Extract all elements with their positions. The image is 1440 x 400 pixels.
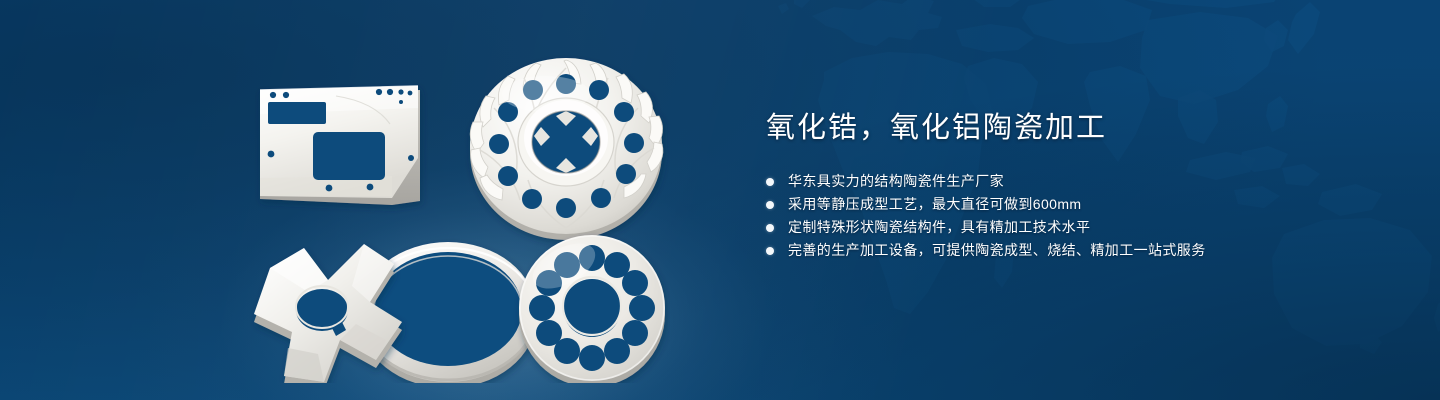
bullet-dot-icon <box>766 178 774 186</box>
ceramic-mounting-plate <box>260 86 420 205</box>
bullet-dot-icon <box>766 224 774 232</box>
hero-banner: 氧化锆，氧化铝陶瓷加工 华东具实力的结构陶瓷件生产厂家 采用等静压成型工艺，最大… <box>0 0 1440 400</box>
page-title: 氧化锆，氧化铝陶瓷加工 <box>766 108 1386 148</box>
feature-text: 采用等静压成型工艺，最大直径可做到600mm <box>788 196 1081 212</box>
feature-text: 完善的生产加工设备，可提供陶瓷成型、烧结、精加工一站式服务 <box>788 242 1206 258</box>
ceramic-products-photo <box>240 38 670 383</box>
ceramic-cross-plate <box>254 244 402 383</box>
bullet-dot-icon <box>766 247 774 255</box>
banner-copy: 氧化锆，氧化铝陶瓷加工 华东具实力的结构陶瓷件生产厂家 采用等静压成型工艺，最大… <box>766 108 1386 262</box>
list-item: 采用等静压成型工艺，最大直径可做到600mm <box>766 193 1386 216</box>
feature-list: 华东具实力的结构陶瓷件生产厂家 采用等静压成型工艺，最大直径可做到600mm 定… <box>766 170 1386 262</box>
list-item: 完善的生产加工设备，可提供陶瓷成型、烧结、精加工一站式服务 <box>766 239 1386 262</box>
feature-text: 华东具实力的结构陶瓷件生产厂家 <box>788 173 1004 189</box>
bullet-dot-icon <box>766 201 774 209</box>
ceramic-perforated-disc <box>519 234 665 383</box>
list-item: 定制特殊形状陶瓷结构件，具有精加工技术水平 <box>766 216 1386 239</box>
feature-text: 定制特殊形状陶瓷结构件，具有精加工技术水平 <box>788 219 1090 235</box>
list-item: 华东具实力的结构陶瓷件生产厂家 <box>766 170 1386 193</box>
ceramic-impeller-wheel <box>470 58 663 240</box>
